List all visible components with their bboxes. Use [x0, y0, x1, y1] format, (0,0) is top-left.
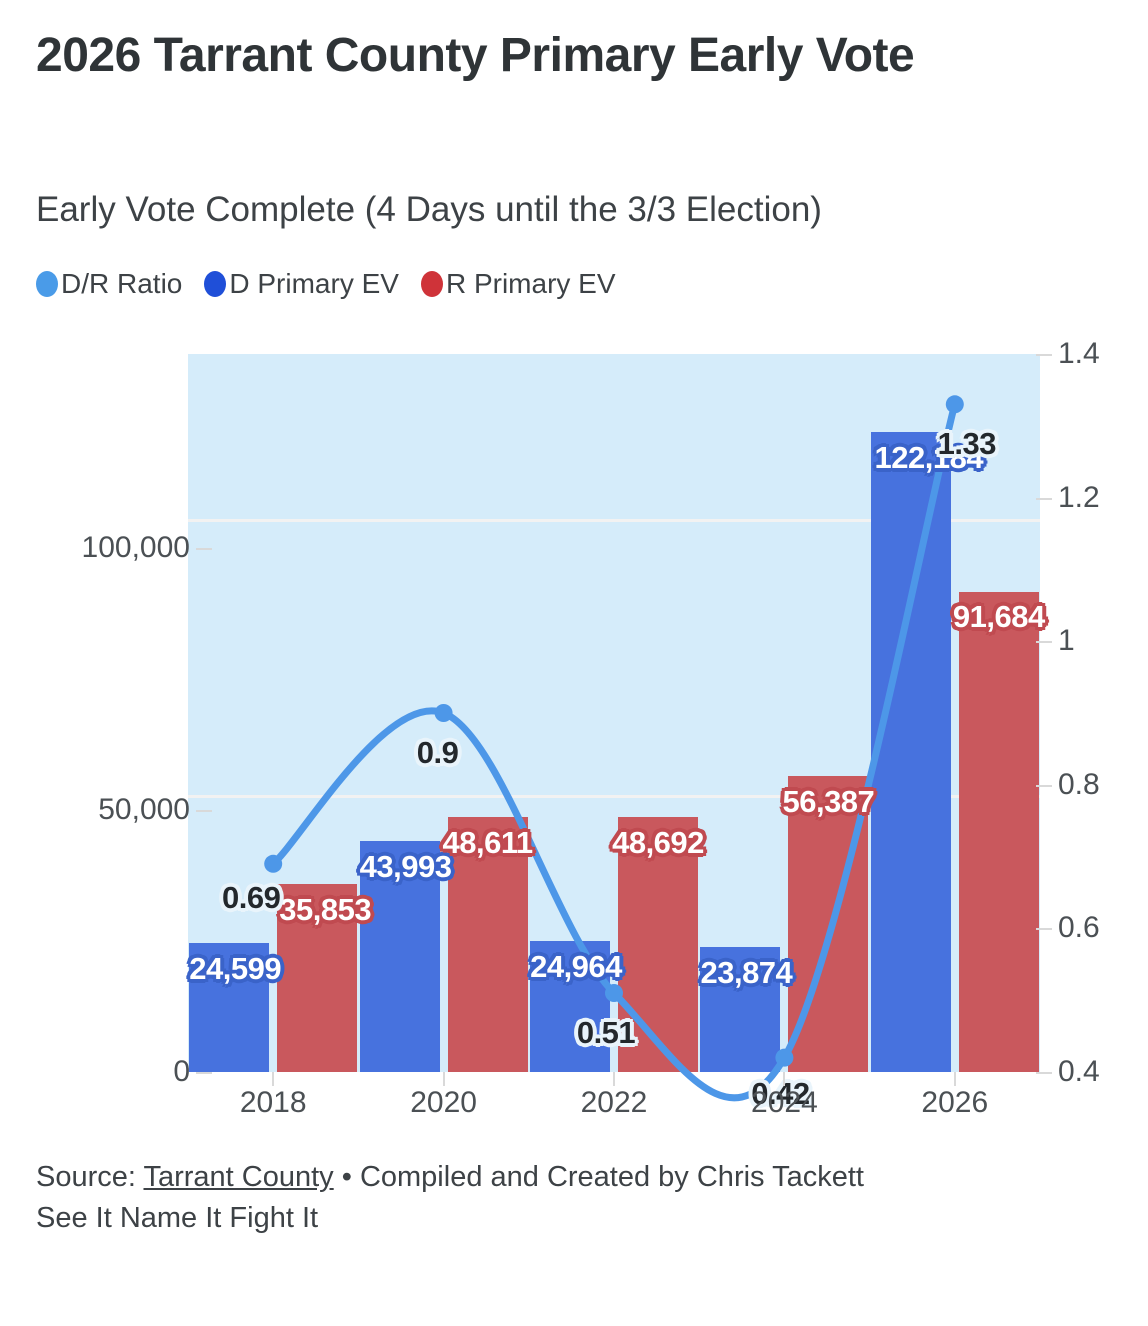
footer-source-prefix: Source: [36, 1161, 143, 1193]
y-axis-right-tick-4: 1.2 [1058, 481, 1100, 515]
tickmark [1036, 498, 1052, 500]
x-axis-tick-2024: 2024 [751, 1086, 818, 1120]
footer-tagline: See It Name It Fight It [36, 1198, 1116, 1239]
x-axis-tick-2018: 2018 [240, 1086, 307, 1120]
tickmark [1036, 641, 1052, 643]
x-axis-tick-2020: 2020 [410, 1086, 477, 1120]
x-axis-tickmark [783, 1072, 785, 1086]
footer-source-line: Source: Tarrant County • Compiled and Cr… [36, 1157, 1116, 1198]
tickmark [1036, 928, 1052, 930]
x-axis-tick-2022: 2022 [581, 1086, 648, 1120]
source-link[interactable]: Tarrant County [143, 1161, 333, 1193]
x-axis-tickmark [954, 1072, 956, 1086]
tickmark [196, 810, 212, 812]
y-axis-right-tick-0: 0.4 [1058, 1055, 1100, 1089]
y-axis-left-tick-0: 0 [173, 1055, 190, 1089]
tickmark [196, 548, 212, 550]
tickmark [1036, 354, 1052, 356]
axes-layer: 050,000100,0000.40.60.811.21.42018202020… [0, 0, 1148, 1326]
y-axis-right-tick-2: 0.8 [1058, 768, 1100, 802]
x-axis-tickmark [443, 1072, 445, 1086]
x-axis-tick-2026: 2026 [921, 1086, 988, 1120]
y-axis-left-tick-2: 100,000 [82, 531, 190, 565]
chart-footer: Source: Tarrant County • Compiled and Cr… [36, 1157, 1116, 1239]
tickmark [196, 1072, 212, 1074]
y-axis-right-tick-5: 1.4 [1058, 337, 1100, 371]
tickmark [1036, 1072, 1052, 1074]
y-axis-left-tick-1: 50,000 [98, 793, 190, 827]
footer-credit: • Compiled and Created by Chris Tackett [334, 1161, 864, 1193]
y-axis-right-tick-1: 0.6 [1058, 911, 1100, 945]
chart-page: 2026 Tarrant County Primary Early Vote E… [0, 0, 1148, 1326]
x-axis-tickmark [272, 1072, 274, 1086]
y-axis-right-tick-3: 1 [1058, 624, 1075, 658]
x-axis-tickmark [613, 1072, 615, 1086]
tickmark [1036, 785, 1052, 787]
